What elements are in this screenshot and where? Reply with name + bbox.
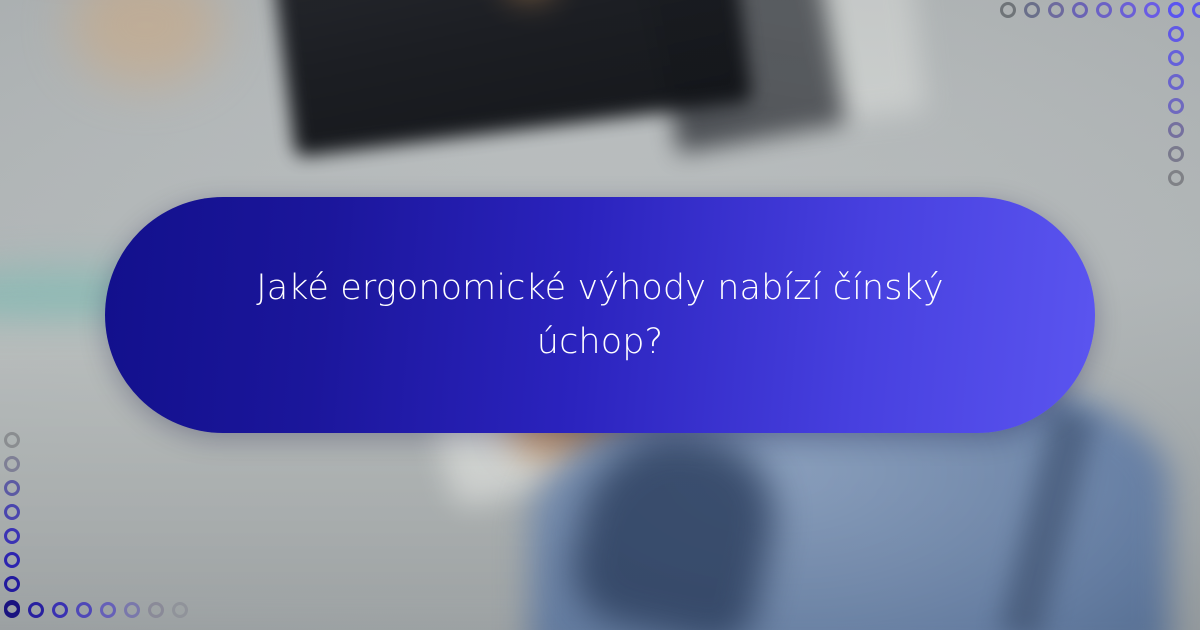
decor-circle-icon [1072, 2, 1088, 18]
decor-circle-icon [4, 432, 20, 448]
decor-circle-icon [4, 602, 20, 618]
decor-circle-icon [1120, 2, 1136, 18]
decor-circle-icon [1168, 26, 1184, 42]
decor-circle-icon [1168, 98, 1184, 114]
decor-circle-icon [1144, 2, 1160, 18]
decor-circle-icon [4, 480, 20, 496]
decor-circle-icon [1168, 50, 1184, 66]
decor-circle-icon [1168, 146, 1184, 162]
decor-circle-icon [1096, 2, 1112, 18]
decor-dots-bottom-row [4, 602, 196, 618]
decor-circle-icon [1048, 2, 1064, 18]
decor-circle-icon [4, 552, 20, 568]
decor-circle-icon [4, 456, 20, 472]
decor-circle-icon [52, 602, 68, 618]
decor-circle-icon [4, 504, 20, 520]
headline-text: Jaké ergonomické výhody nabízí čínský úc… [250, 261, 950, 370]
og-card-canvas: Jaké ergonomické výhody nabízí čínský úc… [0, 0, 1200, 630]
decor-circle-icon [1000, 2, 1016, 18]
decor-circle-icon [1168, 74, 1184, 90]
decor-circle-icon [148, 602, 164, 618]
decor-circle-icon [124, 602, 140, 618]
decor-dots-right-column [1168, 2, 1184, 194]
decor-circle-icon [4, 576, 20, 592]
decor-circle-icon [172, 602, 188, 618]
decor-circle-icon [76, 602, 92, 618]
decor-circle-icon [1168, 2, 1184, 18]
decor-circle-icon [4, 528, 20, 544]
decor-circle-icon [100, 602, 116, 618]
decor-dots-left-column [4, 432, 20, 624]
decor-circle-icon [1168, 170, 1184, 186]
headline-card: Jaké ergonomické výhody nabízí čínský úc… [105, 197, 1095, 433]
decor-circle-icon [1192, 2, 1200, 18]
decor-circle-icon [28, 602, 44, 618]
decor-circle-icon [1168, 122, 1184, 138]
decor-circle-icon [1024, 2, 1040, 18]
